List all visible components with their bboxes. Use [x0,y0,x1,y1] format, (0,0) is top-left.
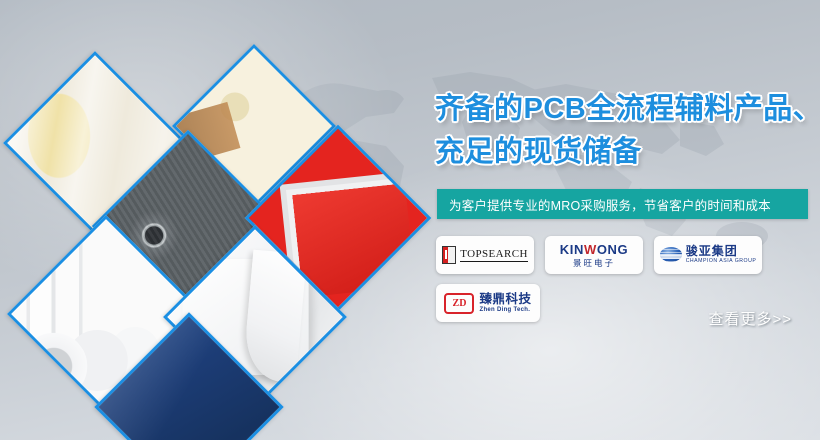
product-photo-collage: JIE [0,0,430,440]
headline-line-1: 齐备的PCB全流程辅料产品、 [435,93,820,125]
partner-badge-kinwong[interactable]: KINWONG 景旺电子 [545,236,643,274]
hero-banner: JIE 齐备的PCB全流程辅料产品、 充足的现货储备 为客户提供专业的MRO采购… [0,0,820,440]
partner-badge-topsearch[interactable]: TOPSEARCH [436,236,534,274]
view-more-link[interactable]: 查看更多>> [708,308,792,329]
kinwong-name-part-c: ONG [597,242,628,257]
partner-name-cn-zhen-ding: 臻鼎科技 [479,293,531,306]
partner-badge-champion-asia[interactable]: 骏亚集团 CHAMPION ASIA GROUP [654,236,762,274]
partner-name-cn-kinwong: 景旺电子 [560,259,629,268]
banner-subtitle-bar: 为客户提供专业的MRO采购服务，节省客户的时间和成本 [437,189,808,219]
partner-name-en-champion-asia: CHAMPION ASIA GROUP [686,259,757,264]
kinwong-name-part-a: KIN [560,242,584,257]
banner-content: 齐备的PCB全流程辅料产品、 充足的现货储备 为客户提供专业的MRO采购服务，节… [430,0,820,440]
banner-headline: 齐备的PCB全流程辅料产品、 充足的现货储备 [435,88,820,174]
kinwong-name-part-b: W [584,242,597,257]
partner-name-en-zhen-ding: Zhen Ding Tech. [479,307,531,313]
headline-line-2: 充足的现货储备 [435,131,820,174]
globe-icon [660,247,682,262]
partner-logo-row-1: TOPSEARCH KINWONG 景旺电子 骏亚集团 CHAMPION ASI [436,236,820,274]
partner-badge-zhen-ding[interactable]: ZD 臻鼎科技 Zhen Ding Tech. [436,284,540,322]
partner-name-topsearch: TOPSEARCH [460,248,528,262]
partner-name-cn-champion-asia: 骏亚集团 [686,245,757,257]
topsearch-mark-icon [442,246,456,264]
kinwong-wordmark-icon: KINWONG [560,243,629,256]
banner-subtitle-text: 为客户提供专业的MRO采购服务，节省客户的时间和成本 [437,195,771,214]
zhen-ding-monogram-icon: ZD [444,293,474,314]
